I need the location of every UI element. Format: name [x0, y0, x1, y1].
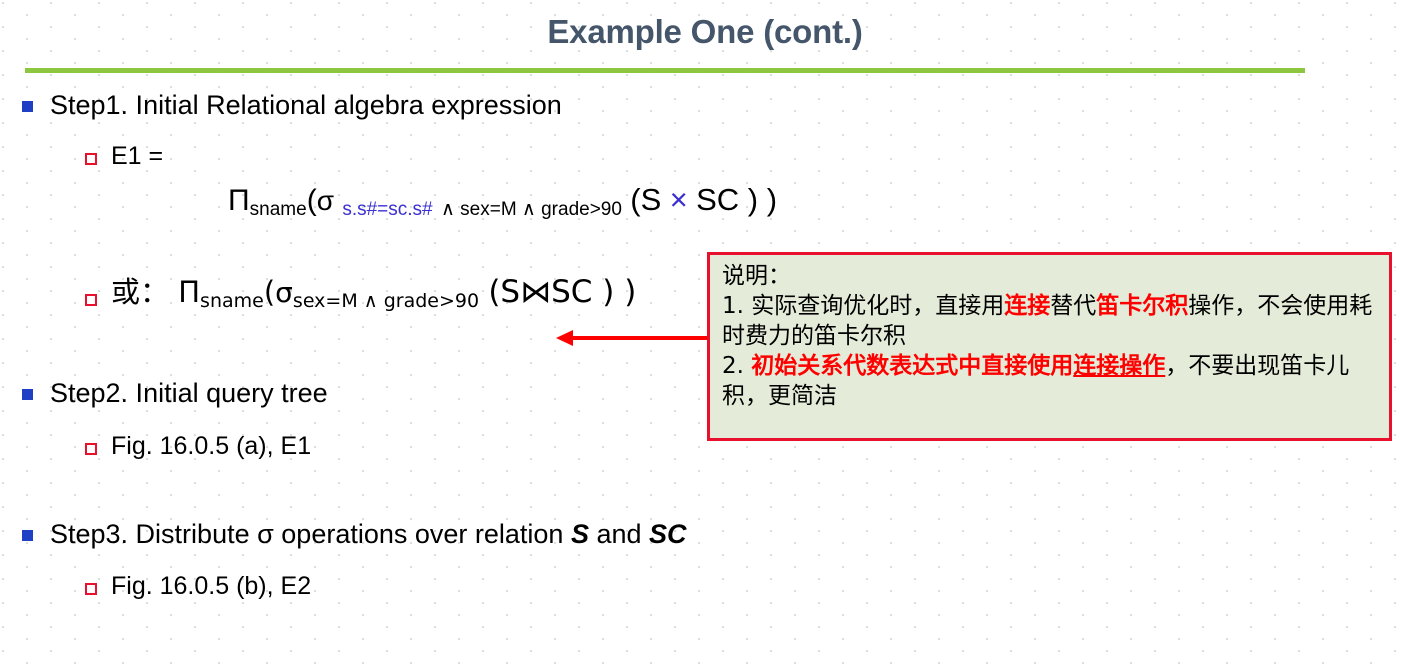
selection-symbol: σ	[257, 519, 274, 549]
formula-e1-open-paren: (	[307, 184, 317, 217]
bullet-step3-and: and	[589, 519, 649, 549]
bullet-step1-sub1-label: E1 =	[111, 142, 163, 170]
relation-sc: SC	[649, 519, 687, 549]
formula-alt-prefix: 或：	[111, 275, 169, 309]
page-title: Example One (cont.)	[0, 13, 1410, 51]
selection-condition: sex=M ∧ grade>90	[293, 290, 479, 312]
square-bullet-icon	[22, 101, 33, 112]
projection-symbol: Π	[178, 275, 200, 309]
bullet-step1-sub1: E1 =	[85, 142, 163, 170]
bullet-step1-label: Step1. Initial Relational algebra expres…	[50, 90, 562, 120]
bullet-step2: Step2. Initial query tree	[22, 378, 328, 408]
formula-e1-operand-right: SC ) )	[696, 182, 777, 217]
hollow-square-bullet-icon	[85, 294, 97, 306]
callout-item-1-number: 1.	[722, 293, 751, 319]
bullet-step2-sub1: Fig. 16.0.5 (a), E1	[85, 432, 311, 460]
formula-alt-operand-right: SC ) )	[551, 274, 636, 310]
formula-e1-alt: 或： Πsname(σsex=M ∧ grade>90 (S⋈SC ) )	[111, 275, 636, 313]
selection-condition-rest: ∧ sex=M ∧ grade>90	[441, 199, 622, 220]
callout-arrow-line	[571, 336, 708, 340]
bullet-step3-prefix: Step3. Distribute	[50, 519, 257, 549]
bullet-step3-label: Step3. Distribute σ operations over rela…	[50, 519, 687, 549]
selection-symbol: σ	[317, 185, 334, 216]
projection-subscript: sname	[250, 199, 307, 220]
selection-condition-join: s.s#=sc.s#	[342, 199, 432, 220]
square-bullet-icon	[22, 530, 33, 541]
hollow-square-bullet-icon	[85, 443, 97, 455]
bullet-step1: Step1. Initial Relational algebra expres…	[22, 90, 562, 120]
projection-subscript: sname	[200, 290, 264, 312]
hollow-square-bullet-icon	[85, 583, 97, 595]
square-bullet-icon	[22, 389, 33, 400]
title-divider	[25, 68, 1305, 73]
bullet-step2-label: Step2. Initial query tree	[50, 378, 328, 408]
natural-join-icon: ⋈	[520, 274, 551, 310]
callout-item-1-highlight-cartesian: 笛卡尔积	[1096, 293, 1188, 319]
hollow-square-bullet-icon	[85, 153, 97, 165]
callout-arrow-head-icon	[556, 330, 573, 346]
callout-item-2-number: 2.	[722, 353, 751, 379]
callout-item-2-highlight: 初始关系代数表达式中直接使用	[751, 353, 1073, 379]
formula-e1-operand-left: (S	[630, 182, 661, 217]
callout-heading: 说明：	[722, 261, 1381, 291]
formula-e1: Πsname(σ s.s#=sc.s# ∧ sex=M ∧ grade>90 (…	[228, 183, 777, 222]
formula-alt-open-paren: (	[264, 275, 275, 309]
bullet-step2-sub1-label: Fig. 16.0.5 (a), E1	[111, 432, 311, 460]
bullet-step3-sub1: Fig. 16.0.5 (b), E2	[85, 572, 311, 600]
bullet-step3-sub1-label: Fig. 16.0.5 (b), E2	[111, 572, 311, 600]
callout-item-1-seg1: 实际查询优化时，直接用	[751, 293, 1004, 319]
slide-canvas: Example One (cont.) Step1. Initial Relat…	[0, 0, 1410, 664]
callout-item-2: 2. 初始关系代数表达式中直接使用连接操作，不要出现笛卡儿积，更简洁	[722, 351, 1381, 411]
callout-item-1-seg3: 替代	[1050, 293, 1096, 319]
bullet-step3-mid: operations over relation	[274, 519, 571, 549]
relation-s: S	[571, 519, 589, 549]
callout-item-1: 1. 实际查询优化时，直接用连接替代笛卡尔积操作，不会使用耗时费力的笛卡尔积	[722, 291, 1381, 351]
selection-symbol: σ	[275, 276, 293, 309]
formula-alt-operand-left: (S	[488, 274, 520, 310]
projection-symbol: Π	[228, 184, 250, 217]
bullet-step1-sub2: 或： Πsname(σsex=M ∧ grade>90 (S⋈SC ) )	[85, 283, 636, 321]
callout-item-1-highlight-join: 连接	[1004, 293, 1050, 319]
bullet-step3: Step3. Distribute σ operations over rela…	[22, 519, 687, 549]
callout-item-2-highlight-underlined: 连接操作	[1073, 353, 1165, 379]
explanation-callout: 说明： 1. 实际查询优化时，直接用连接替代笛卡尔积操作，不会使用耗时费力的笛卡…	[707, 252, 1392, 441]
cartesian-product-icon: ×	[670, 182, 688, 217]
